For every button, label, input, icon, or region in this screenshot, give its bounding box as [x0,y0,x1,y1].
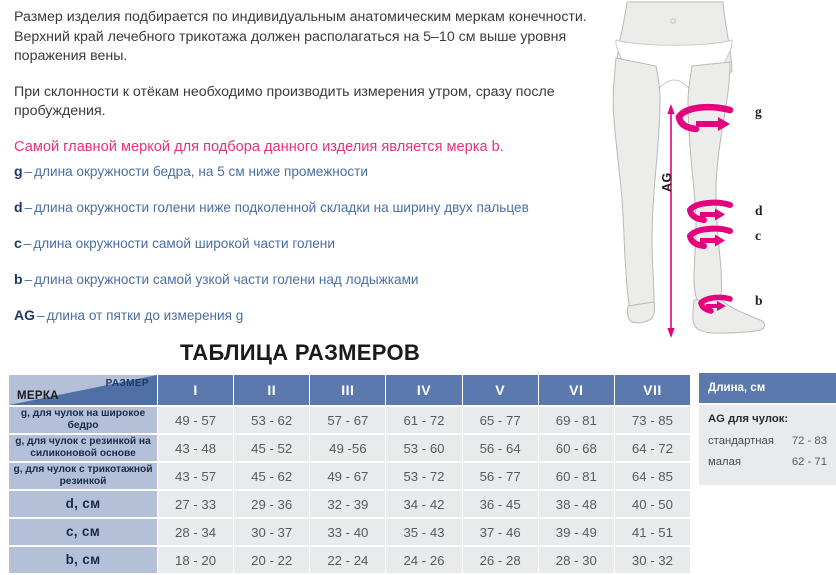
table-row: g, для чулок на широкое бедро 49 - 57 53… [9,407,690,433]
table-cell: 40 - 50 [615,491,690,517]
female-lower-body-figure [600,0,836,345]
definition-item-ag: AG–длина от пятки до измерения g [14,307,614,324]
size-table: РАЗМЕР МЕРКА I II III IV V VI VII g, для… [8,373,691,575]
definition-text-d: длина окружности голени ниже подколенной… [34,200,529,215]
definition-key-g: g [14,163,23,179]
table-row: b, см 18 - 20 20 - 22 22 - 24 24 - 26 26… [9,547,690,573]
length-panel-row-standard: стандартная 72 - 83 [708,435,827,447]
table-cell: 49 - 67 [310,463,385,489]
corner-measure-label: МЕРКА [17,390,59,402]
length-panel-body: AG для чулок: стандартная 72 - 83 малая … [699,405,836,485]
length-option-range: 72 - 83 [792,435,827,447]
table-row: g, для чулок с резинкой на силиконовой о… [9,435,690,461]
table-cell: 45 - 52 [234,435,309,461]
definition-item-d: d–длина окружности голени ниже подколенн… [14,199,614,216]
row-label: b, см [9,547,157,573]
table-cell: 37 - 46 [463,519,538,545]
table-cell: 45 - 62 [234,463,309,489]
illustration-label-d: d [755,203,763,219]
illustration-label-g: g [755,104,762,120]
table-cell: 57 - 67 [310,407,385,433]
table-cell: 28 - 34 [158,519,233,545]
table-cell: 65 - 77 [463,407,538,433]
length-panel-header: Длина, см [699,373,836,403]
row-label: d, см [9,491,157,517]
illustration-label-c: c [755,228,761,244]
size-column-header-2: II [234,375,309,405]
table-cell: 35 - 43 [386,519,461,545]
left-leg-shape [613,58,660,315]
size-column-header-1: I [158,375,233,405]
definition-text-c: длина окружности самой широкой части гол… [33,236,335,251]
definition-item-b: b–длина окружности самой узкой части гол… [14,271,614,288]
leg-measurement-illustration: g d c b AG [600,0,836,345]
definition-key-b: b [14,271,23,287]
length-option-name: малая [708,456,741,468]
table-cell: 29 - 36 [234,491,309,517]
table-cell: 38 - 48 [539,491,614,517]
table-cell: 73 - 85 [615,407,690,433]
length-option-range: 62 - 71 [792,456,827,468]
definition-text-g: длина окружности бедра, на 5 см ниже про… [34,164,368,179]
definition-item-g: g–длина окружности бедра, на 5 см ниже п… [14,163,614,180]
left-foot-shape [628,302,655,323]
definition-dash: – [23,272,35,287]
table-cell: 60 - 81 [539,463,614,489]
definition-text-b: длина окружности самой узкой части голен… [34,272,418,287]
table-cell: 56 - 77 [463,463,538,489]
corner-size-label: РАЗМЕР [106,378,149,389]
table-cell: 18 - 20 [158,547,233,573]
row-label: g, для чулок с трикотажной резинкой [9,463,157,489]
table-cell: 30 - 37 [234,519,309,545]
table-cell: 43 - 57 [158,463,233,489]
size-table-header-row: РАЗМЕР МЕРКА I II III IV V VI VII [9,375,690,405]
definition-key-d: d [14,199,23,215]
table-cell: 32 - 39 [310,491,385,517]
definition-item-c: c–длина окружности самой широкой части г… [14,235,614,252]
definition-text-ag: длина от пятки до измерения g [47,308,244,323]
table-cell: 64 - 85 [615,463,690,489]
table-cell: 28 - 30 [539,547,614,573]
length-option-name: стандартная [708,435,774,447]
size-table-title: ТАБЛИЦА РАЗМЕРОВ [0,340,600,366]
intro-accent-note: Самой главной меркой для подбора данного… [14,138,604,158]
table-cell: 24 - 26 [386,547,461,573]
table-cell: 49 - 57 [158,407,233,433]
table-cell: 61 - 72 [386,407,461,433]
table-row: d, см 27 - 33 29 - 36 32 - 39 34 - 42 36… [9,491,690,517]
size-column-header-3: III [310,375,385,405]
length-panel: Длина, см AG для чулок: стандартная 72 -… [699,373,836,485]
table-row: c, см 28 - 34 30 - 37 33 - 40 35 - 43 37… [9,519,690,545]
intro-paragraph-1: Размер изделия подбирается по индивидуал… [14,8,604,67]
table-corner-header: РАЗМЕР МЕРКА [9,375,157,405]
illustration-label-ag: AG [660,172,674,192]
size-column-header-5: V [463,375,538,405]
table-cell: 64 - 72 [615,435,690,461]
table-cell: 26 - 28 [463,547,538,573]
definition-dash: – [35,308,47,323]
table-cell: 53 - 72 [386,463,461,489]
definition-dash: – [23,200,35,215]
table-cell: 30 - 32 [615,547,690,573]
row-label: g, для чулок с резинкой на силиконовой о… [9,435,157,461]
length-panel-title: AG для чулок: [708,413,827,425]
definition-key-ag: AG [14,307,35,323]
table-cell: 60 - 68 [539,435,614,461]
size-column-header-6: VI [539,375,614,405]
table-cell: 33 - 40 [310,519,385,545]
length-panel-row-small: малая 62 - 71 [708,456,827,468]
size-column-header-4: IV [386,375,461,405]
ag-arrow-up [667,104,674,114]
definition-dash: – [23,164,35,179]
table-cell: 53 - 60 [386,435,461,461]
intro-paragraph-2: При склонности к отёкам необходимо произ… [14,83,604,122]
table-row: g, для чулок с трикотажной резинкой 43 -… [9,463,690,489]
table-cell: 39 - 49 [539,519,614,545]
row-label: g, для чулок на широкое бедро [9,407,157,433]
ag-arrow-down [667,328,674,338]
table-cell: 49 -56 [310,435,385,461]
size-table-region: РАЗМЕР МЕРКА I II III IV V VI VII g, для… [8,373,828,575]
table-cell: 36 - 45 [463,491,538,517]
intro-text-block: Размер изделия подбирается по индивидуал… [14,8,604,175]
table-cell: 34 - 42 [386,491,461,517]
table-cell: 56 - 64 [463,435,538,461]
definition-dash: – [22,236,34,251]
size-column-header-7: VII [615,375,690,405]
measurement-definitions-list: g–длина окружности бедра, на 5 см ниже п… [14,163,614,343]
table-cell: 43 - 48 [158,435,233,461]
row-label: c, см [9,519,157,545]
table-cell: 22 - 24 [310,547,385,573]
right-leg-shape [688,62,730,306]
illustration-label-b: b [755,293,763,309]
table-cell: 69 - 81 [539,407,614,433]
table-cell: 20 - 22 [234,547,309,573]
definition-key-c: c [14,235,22,251]
table-cell: 27 - 33 [158,491,233,517]
table-cell: 41 - 51 [615,519,690,545]
table-cell: 53 - 62 [234,407,309,433]
